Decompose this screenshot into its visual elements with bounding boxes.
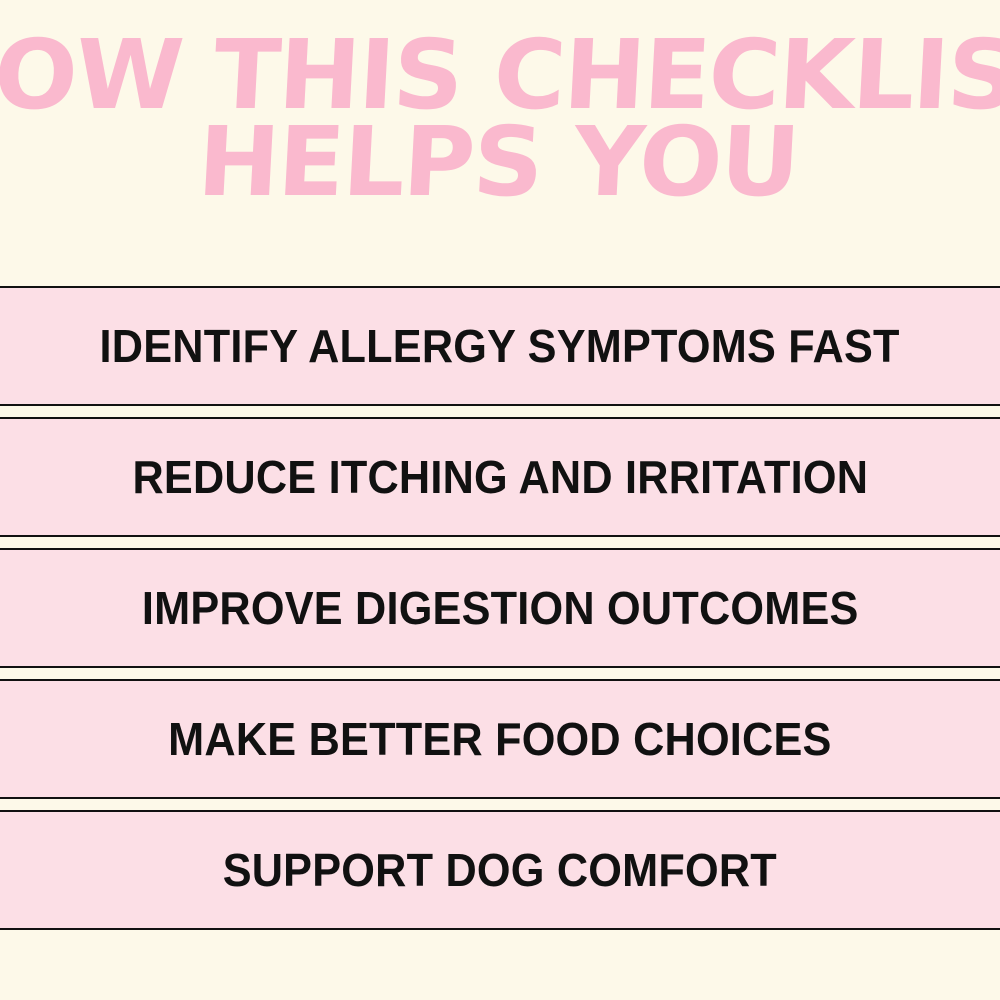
checklist-row-1-label: IDENTIFY ALLERGY SYMPTOMS FAST — [100, 323, 900, 369]
checklist-row-5-label: SUPPORT DOG COMFORT — [223, 847, 777, 893]
checklist-row-4-label: MAKE BETTER FOOD CHOICES — [168, 716, 831, 762]
checklist-row-4[interactable]: MAKE BETTER FOOD CHOICES — [0, 679, 1000, 799]
checklist-row-3[interactable]: IMPROVE DIGESTION OUTCOMES — [0, 548, 1000, 668]
band-divider-3 — [0, 668, 1000, 679]
footer-space — [0, 930, 1000, 1000]
title-block: HOW THIS CHECKLIST HELPS YOU — [0, 0, 1000, 286]
checklist-row-3-wrap: IMPROVE DIGESTION OUTCOMES — [0, 548, 1000, 668]
checklist-row-2-label: REDUCE ITCHING AND IRRITATION — [132, 454, 868, 500]
checklist-row-1-wrap: IDENTIFY ALLERGY SYMPTOMS FAST — [0, 286, 1000, 406]
page-title-line-1: HOW THIS CHECKLIST — [0, 34, 1000, 117]
checklist-row-4-wrap: MAKE BETTER FOOD CHOICES — [0, 679, 1000, 799]
checklist-row-2[interactable]: REDUCE ITCHING AND IRRITATION — [0, 417, 1000, 537]
poster-canvas: HOW THIS CHECKLIST HELPS YOU IDENTIFY AL… — [0, 0, 1000, 1000]
page-title-line-2: HELPS YOU — [196, 121, 801, 204]
checklist-bands: IDENTIFY ALLERGY SYMPTOMS FAST REDUCE IT… — [0, 286, 1000, 1000]
band-divider-1 — [0, 406, 1000, 417]
band-divider-2 — [0, 537, 1000, 548]
checklist-row-5[interactable]: SUPPORT DOG COMFORT — [0, 810, 1000, 930]
band-divider-4 — [0, 799, 1000, 810]
checklist-row-5-wrap: SUPPORT DOG COMFORT — [0, 810, 1000, 930]
checklist-row-3-label: IMPROVE DIGESTION OUTCOMES — [142, 585, 859, 631]
checklist-row-2-wrap: REDUCE ITCHING AND IRRITATION — [0, 417, 1000, 537]
checklist-row-1[interactable]: IDENTIFY ALLERGY SYMPTOMS FAST — [0, 286, 1000, 406]
